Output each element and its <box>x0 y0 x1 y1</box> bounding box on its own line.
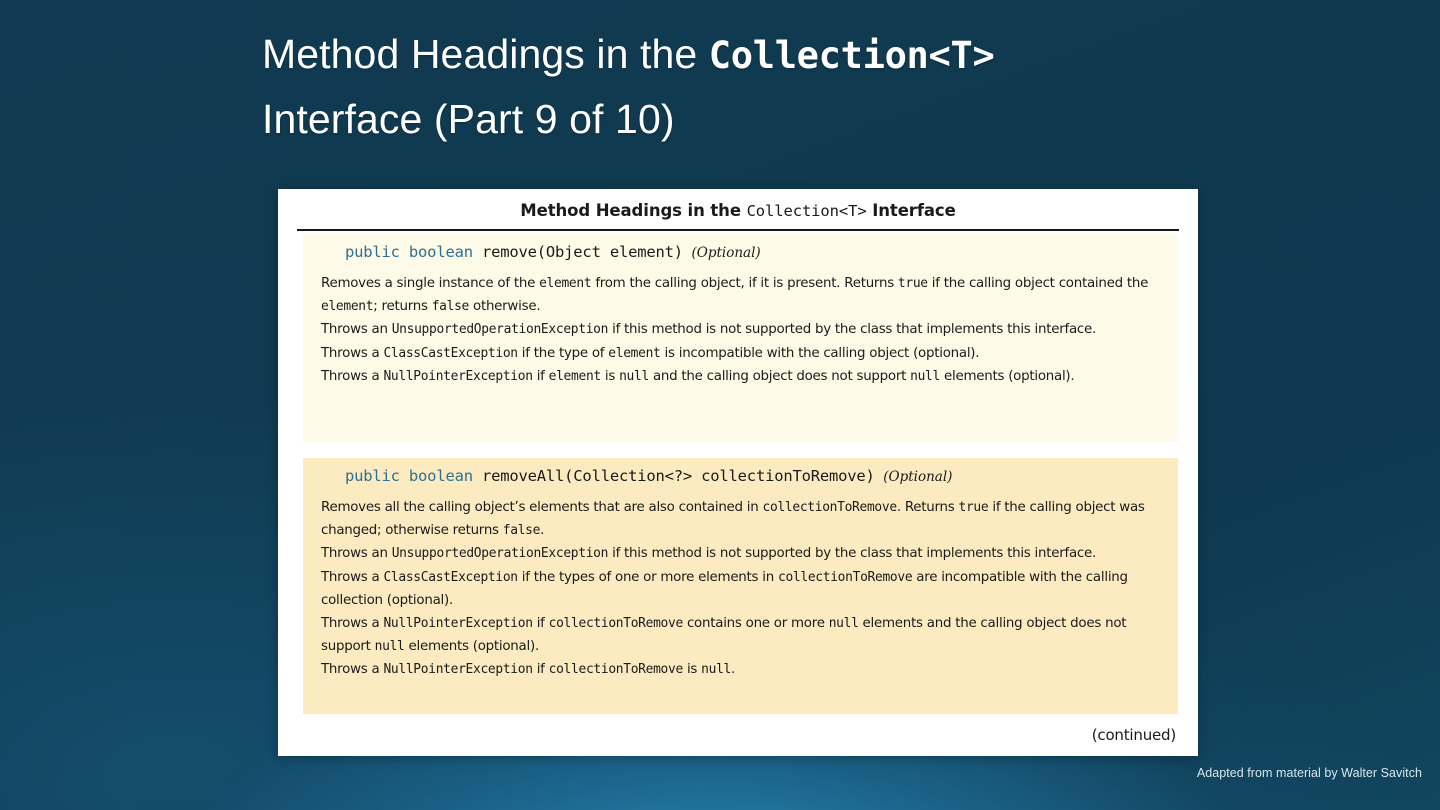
method-block-remove: public boolean remove(Object element) (O… <box>303 234 1178 442</box>
text-span: if this method is not supported by the c… <box>608 322 1096 337</box>
code-span: null <box>619 369 649 384</box>
code-span: collectionToRemove <box>549 616 683 631</box>
code-span: null <box>910 369 940 384</box>
code-span: element <box>321 299 373 314</box>
text-span: is <box>683 662 701 677</box>
description-paragraph: Throws a NullPointerException if collect… <box>321 658 1160 681</box>
code-span: false <box>503 523 540 538</box>
text-span: if <box>533 662 549 677</box>
page-subtitle: Interface (Part 9 of 10) <box>262 87 1272 152</box>
method-name-and-params: remove(Object element) <box>482 243 683 261</box>
text-span: if this method is not supported by the c… <box>608 546 1096 561</box>
code-span: ClassCastException <box>383 346 517 361</box>
code-span: null <box>829 616 859 631</box>
code-span: false <box>432 299 469 314</box>
description-paragraph: Throws a NullPointerException if collect… <box>321 612 1160 658</box>
optional-tag-text: (Optional) <box>691 245 760 261</box>
figure-heading-code: Collection<T> <box>747 202 867 220</box>
page-title-code: Collection<T> <box>709 34 995 77</box>
description-paragraph: Removes all the calling object’s element… <box>321 496 1160 542</box>
code-span: collectionToRemove <box>763 500 897 515</box>
continued-label: (continued) <box>1092 726 1176 744</box>
description-paragraph: Throws an UnsupportedOperationException … <box>321 318 1160 341</box>
text-span: if the calling object contained the <box>928 276 1148 291</box>
text-span: Throws a <box>321 662 383 677</box>
text-span: if the types of one or more elements in <box>518 570 778 585</box>
method-modifiers: public boolean <box>345 243 482 261</box>
text-span: . <box>731 662 735 677</box>
text-span: if <box>533 369 549 384</box>
text-span: Throws a <box>321 616 383 631</box>
method-description-remove: Removes a single instance of the element… <box>321 272 1160 388</box>
description-paragraph: Throws an UnsupportedOperationException … <box>321 542 1160 565</box>
method-signature-remove: public boolean remove(Object element) (O… <box>321 243 1160 261</box>
text-span: otherwise. <box>469 299 540 314</box>
text-span: if <box>533 616 549 631</box>
page-title: Method Headings in the Collection<T> <box>262 22 1272 87</box>
text-span: Throws a <box>321 346 383 361</box>
code-span: UnsupportedOperationException <box>392 322 608 337</box>
description-paragraph: Throws a NullPointerException if element… <box>321 365 1160 388</box>
text-span: elements (optional). <box>405 639 539 654</box>
figure-heading: Method Headings in the Collection<T> Int… <box>278 201 1198 220</box>
method-name-and-params: removeAll(Collection<?> collectionToRemo… <box>482 467 875 485</box>
description-paragraph: Throws a ClassCastException if the type … <box>321 342 1160 365</box>
code-span: NullPointerException <box>383 662 532 677</box>
text-span: Removes all the calling object’s element… <box>321 500 763 515</box>
code-span: NullPointerException <box>383 616 532 631</box>
text-span: elements (optional). <box>940 369 1074 384</box>
optional-tag-text: (Optional) <box>883 469 952 485</box>
optional-tag: (Optional) <box>683 245 761 261</box>
code-span: element <box>539 276 591 291</box>
text-span: ; returns <box>373 299 431 314</box>
code-span: null <box>701 662 731 677</box>
description-paragraph: Throws a ClassCastException if the types… <box>321 566 1160 612</box>
text-span: Throws an <box>321 546 392 561</box>
text-span: Throws an <box>321 322 392 337</box>
figure-card: Method Headings in the Collection<T> Int… <box>278 189 1198 756</box>
code-span: UnsupportedOperationException <box>392 546 608 561</box>
text-span: Throws a <box>321 570 383 585</box>
text-span: if the type of <box>518 346 609 361</box>
text-span: contains one or more <box>683 616 829 631</box>
code-span: NullPointerException <box>383 369 532 384</box>
method-modifiers: public boolean <box>345 467 482 485</box>
code-span: ClassCastException <box>383 570 517 585</box>
description-paragraph: Removes a single instance of the element… <box>321 272 1160 318</box>
attribution-text: Adapted from material by Walter Savitch <box>1197 766 1422 780</box>
text-span: . <box>540 523 544 538</box>
figure-heading-part2: Interface <box>867 201 956 220</box>
code-span: element <box>608 346 660 361</box>
text-span: is incompatible with the calling object … <box>661 346 980 361</box>
slide-canvas: Method Headings in the Collection<T> Int… <box>0 0 1440 810</box>
figure-heading-part1: Method Headings in the <box>520 201 746 220</box>
method-description-removeall: Removes all the calling object’s element… <box>321 496 1160 681</box>
method-signature-removeall: public boolean removeAll(Collection<?> c… <box>321 467 1160 485</box>
code-span: true <box>959 500 989 515</box>
text-span: . Returns <box>897 500 959 515</box>
slide-title-block: Method Headings in the Collection<T> Int… <box>262 22 1272 152</box>
text-span: from the calling object, if it is presen… <box>591 276 898 291</box>
text-span: is <box>601 369 619 384</box>
page-title-text-part1: Method Headings in the <box>262 31 709 77</box>
heading-divider <box>297 229 1179 231</box>
method-block-removeall: public boolean removeAll(Collection<?> c… <box>303 458 1178 714</box>
optional-tag: (Optional) <box>875 469 953 485</box>
text-span: Removes a single instance of the <box>321 276 539 291</box>
code-span: null <box>375 639 405 654</box>
code-span: true <box>898 276 928 291</box>
code-span: collectionToRemove <box>778 570 912 585</box>
text-span: Throws a <box>321 369 383 384</box>
text-span: and the calling object does not support <box>649 369 910 384</box>
code-span: collectionToRemove <box>549 662 683 677</box>
code-span: element <box>549 369 601 384</box>
